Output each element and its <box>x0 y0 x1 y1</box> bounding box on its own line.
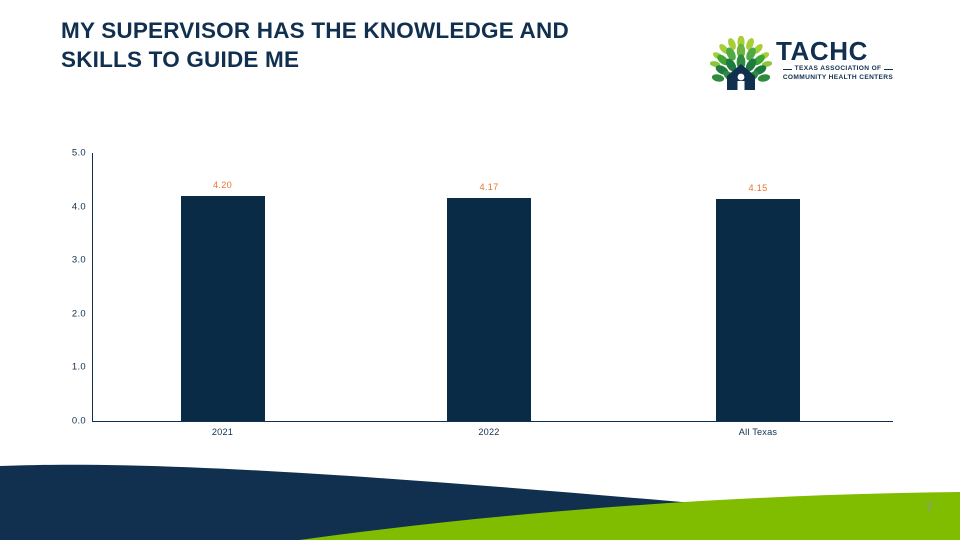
y-axis-tick-label: 0.0 <box>40 416 86 427</box>
x-axis-category-label: All Texas <box>739 427 777 437</box>
y-axis-tick-label: 1.0 <box>40 362 86 373</box>
bar-value-label: 4.20 <box>213 180 232 190</box>
bar-value-label: 4.15 <box>748 183 767 193</box>
y-axis-tick-label: 3.0 <box>40 255 86 266</box>
x-axis-category-label: 2021 <box>212 427 233 437</box>
bar[interactable] <box>716 199 800 421</box>
bar-value-label: 4.17 <box>479 182 498 192</box>
y-axis-tick-label: 5.0 <box>40 148 86 159</box>
x-axis-category-label: 2022 <box>478 427 499 437</box>
bar-group: 4.15 <box>716 153 800 421</box>
bar-group: 4.17 <box>447 153 531 421</box>
bar-group: 4.20 <box>181 153 265 421</box>
decorative-waves <box>0 440 960 540</box>
y-axis-ticks: 5.04.03.02.01.00.0 <box>38 153 86 421</box>
plot-area: 4.204.174.15 <box>92 153 893 421</box>
bar-chart: 5.04.03.02.01.00.0 4.204.174.15 20212022… <box>0 0 960 460</box>
page-number: 7 <box>915 500 943 517</box>
bar[interactable] <box>447 198 531 422</box>
slide: MY SUPERVISOR HAS THE KNOWLEDGE AND SKIL… <box>0 0 960 540</box>
y-axis-tick-label: 2.0 <box>40 308 86 319</box>
bar[interactable] <box>181 196 265 421</box>
y-axis-tick-label: 4.0 <box>40 201 86 212</box>
